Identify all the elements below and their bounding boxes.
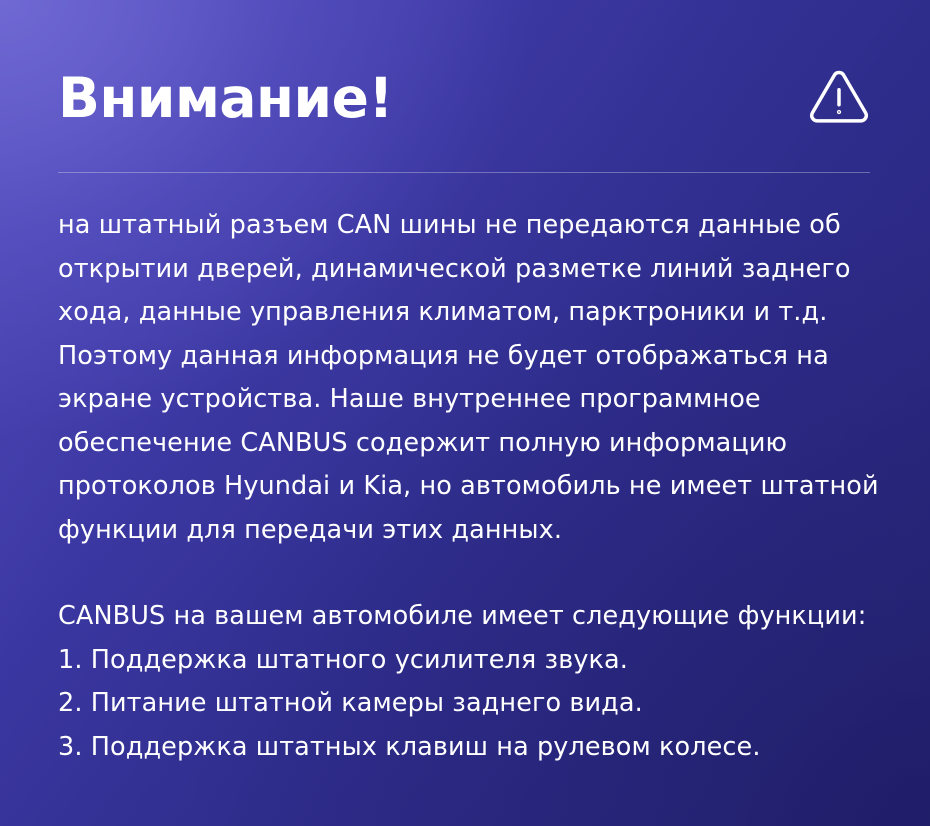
banner-body: на штатный разъем CAN шины не передаются…	[58, 204, 888, 769]
features-block: CANBUS на вашем автомобиле имеет следующ…	[58, 595, 888, 769]
warning-triangle-icon	[808, 67, 870, 129]
features-list: 1. Поддержка штатного усилителя звука. 2…	[58, 639, 888, 770]
notice-paragraph: на штатный разъем CAN шины не передаются…	[58, 204, 888, 552]
notice-line: Поэтому данная информация не будет отобр…	[58, 335, 888, 379]
page-title: Внимание!	[58, 71, 393, 126]
banner-header: Внимание!	[58, 52, 872, 144]
notice-line: протоколов Hyundai и Kia, но автомобиль …	[58, 465, 888, 509]
notice-line: хода, данные управления климатом, парктр…	[58, 291, 888, 335]
notice-line: обеспечение CANBUS содержит полную инфор…	[58, 422, 888, 466]
notice-line: функции для передачи этих данных.	[58, 509, 888, 553]
header-divider	[58, 172, 870, 173]
banner-content: Внимание! на штатный разъем CAN шины не …	[0, 0, 930, 826]
list-item: 1. Поддержка штатного усилителя звука.	[58, 639, 888, 683]
notice-line: экране устройства. Наше внутреннее прогр…	[58, 378, 888, 422]
list-item: 2. Питание штатной камеры заднего вида.	[58, 682, 888, 726]
notice-line: открытии дверей, динамической разметке л…	[58, 248, 888, 292]
features-intro: CANBUS на вашем автомобиле имеет следующ…	[58, 595, 888, 639]
notice-line: на штатный разъем CAN шины не передаются…	[58, 204, 888, 248]
warning-banner: Внимание! на штатный разъем CAN шины не …	[0, 0, 930, 826]
list-item: 3. Поддержка штатных клавиш на рулевом к…	[58, 726, 888, 770]
